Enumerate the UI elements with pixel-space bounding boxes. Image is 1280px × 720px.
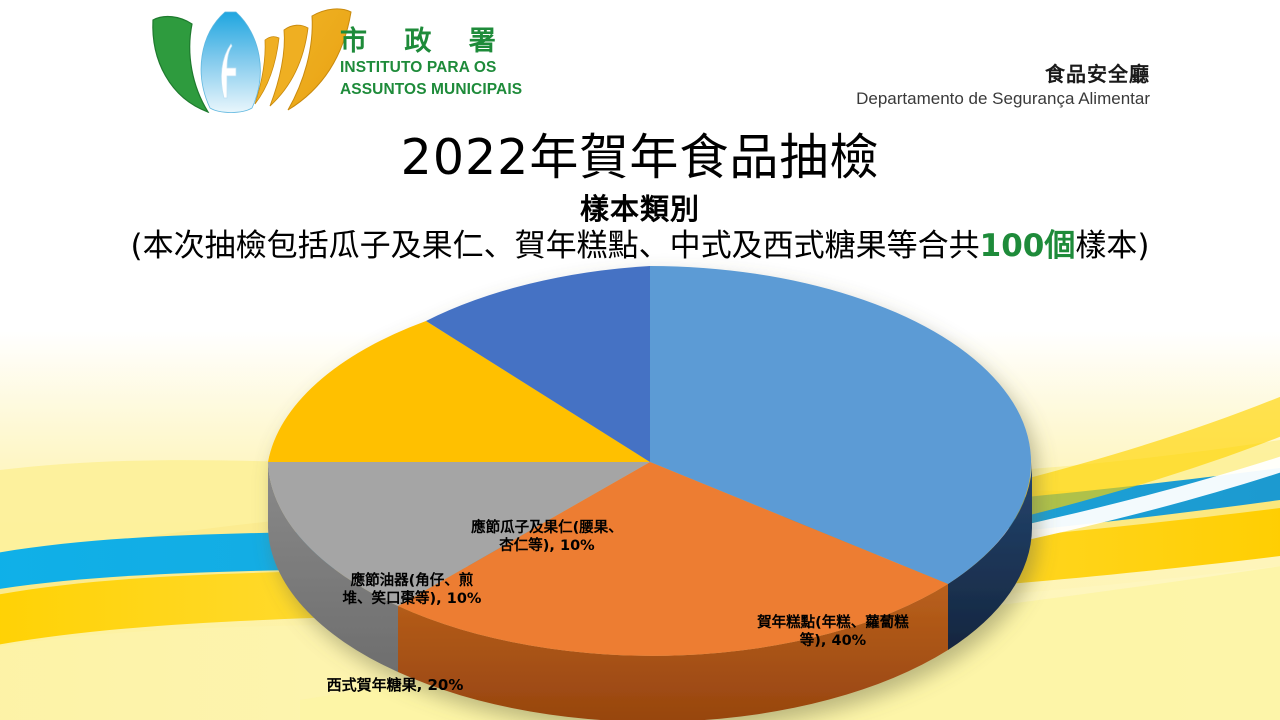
logo-name-pt-line1: INSTITUTO PARA OS: [340, 59, 560, 77]
page-subtitle: 樣本類別: [0, 193, 1280, 226]
slice-label-nuts: 應節瓜子及果仁(腰果、 杏仁等), 10%: [432, 519, 662, 555]
slice-label-west-candy-line1: 西式賀年糖果, 20%: [300, 676, 490, 695]
logo-blue-petal: [201, 12, 260, 113]
slice-label-cake: 賀年糕點(年糕、蘿蔔糕 等), 40%: [728, 614, 938, 650]
slice-label-fried-line2: 堆、笑口棗等), 10%: [312, 590, 512, 608]
slice-label-fried-line1: 應節油器(角仔、煎: [312, 572, 512, 590]
slice-label-cake-line1: 賀年糕點(年糕、蘿蔔糕: [728, 614, 938, 632]
department-name-cn: 食品安全廳: [856, 62, 1150, 87]
logo-green-leaf: [153, 17, 208, 112]
slice-label-fried: 應節油器(角仔、煎 堆、笑口棗等), 10%: [312, 572, 512, 608]
pie-body: [268, 266, 1032, 720]
slide-canvas: 市 政 署 INSTITUTO PARA OS ASSUNTOS MUNICIP…: [0, 0, 1280, 720]
logo-wordmark: 市 政 署 INSTITUTO PARA OS ASSUNTOS MUNICIP…: [340, 28, 560, 99]
slice-label-nuts-line1: 應節瓜子及果仁(腰果、: [432, 519, 662, 537]
pie-chart: 賀年糕點(年糕、蘿蔔糕 等), 40% 中式賀年糖果(糖蓮子、糖 冬瓜、糖椰角等…: [0, 240, 1280, 720]
logo-name-pt-line2: ASSUNTOS MUNICIPAIS: [340, 81, 560, 99]
department-heading: 食品安全廳 Departamento de Segurança Alimenta…: [856, 62, 1150, 110]
iam-logo: [148, 2, 363, 114]
logo-name-cn: 市 政 署: [340, 28, 560, 56]
slice-label-west-candy: 西式賀年糖果, 20%: [300, 676, 490, 695]
department-name-pt: Departamento de Segurança Alimentar: [856, 88, 1150, 110]
slice-label-nuts-line2: 杏仁等), 10%: [432, 537, 662, 555]
page-title: 2022年賀年食品抽檢: [0, 131, 1280, 185]
slice-label-cake-line2: 等), 40%: [728, 632, 938, 650]
